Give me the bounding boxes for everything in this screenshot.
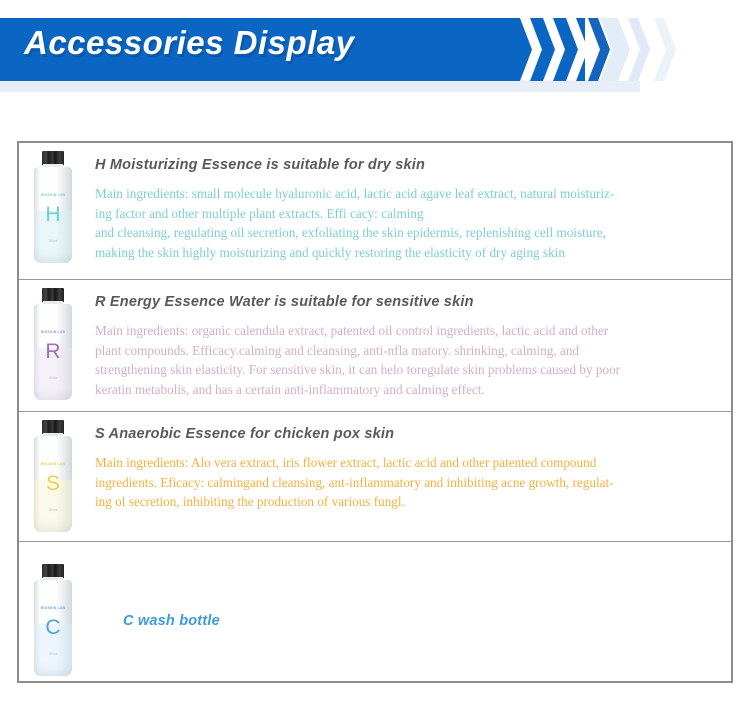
- description-line: making the skin highly moisturizing and …: [95, 243, 715, 263]
- product-text-cell: S Anaerobic Essence for chicken pox skin…: [87, 412, 731, 512]
- bottle-cap: [42, 420, 64, 434]
- bottle-brand-microtext: BIOSKIN LAB: [33, 193, 73, 197]
- bottle-brand-microtext: BIOSKIN LAB: [33, 330, 73, 334]
- description-line: Main ingredients: small molecule hyaluro…: [95, 184, 715, 204]
- product-image-cell: BIOSKIN LAB R 200ml: [19, 280, 87, 400]
- bottle-letter: S: [33, 472, 73, 496]
- banner-underbar: [0, 81, 640, 92]
- bottle-letter: H: [33, 203, 73, 227]
- bottle-s-image: BIOSKIN LAB S 200ml: [33, 420, 73, 532]
- bottle-volume-microtext: 200ml: [33, 508, 73, 512]
- product-text-cell: H Moisturizing Essence is suitable for d…: [87, 143, 731, 262]
- description-line: plant compounds. Efficacy.calming and cl…: [95, 341, 715, 361]
- description-line: ing ol secretion, inhibiting the product…: [95, 492, 715, 512]
- description-line: ingredients. Eficacy: calmingand cleansi…: [95, 473, 715, 493]
- bottle-cap: [42, 151, 64, 165]
- products-table: BIOSKIN LAB H 200ml H Moisturizing Essen…: [17, 141, 733, 683]
- page-header-banner: Accessories Display: [0, 0, 750, 110]
- table-row: BIOSKIN LAB C 200ml C wash bottle: [19, 542, 731, 681]
- bottle-brand-microtext: BIOSKIN LAB: [33, 462, 73, 466]
- bottle-volume-microtext: 200ml: [33, 652, 73, 656]
- product-image-cell: BIOSKIN LAB S 200ml: [19, 412, 87, 532]
- bottle-letter: C: [33, 616, 73, 640]
- product-title: S Anaerobic Essence for chicken pox skin: [95, 426, 715, 442]
- product-title: R Energy Essence Water is suitable for s…: [95, 294, 715, 310]
- chevron-outer-3-icon: [654, 18, 684, 81]
- bottle-c-image: BIOSKIN LAB C 200ml: [33, 564, 73, 676]
- product-text-cell: C wash bottle: [87, 542, 731, 681]
- description-line: Main ingredients: organic calendula extr…: [95, 321, 715, 341]
- table-row: BIOSKIN LAB H 200ml H Moisturizing Essen…: [19, 143, 731, 280]
- product-image-cell: BIOSKIN LAB C 200ml: [19, 542, 87, 676]
- bottle-cap: [42, 564, 64, 578]
- description-line: strengthening skin elasticity. For sensi…: [95, 360, 715, 380]
- chevron-inner-4-icon: [588, 18, 618, 81]
- product-text-cell: R Energy Essence Water is suitable for s…: [87, 280, 731, 399]
- description-line: ing factor and other multiple plant extr…: [95, 204, 715, 224]
- description-line: and cleansing, regulating oil secretion,…: [95, 223, 715, 243]
- page-title: Accessories Display: [24, 24, 355, 62]
- product-title: H Moisturizing Essence is suitable for d…: [95, 157, 715, 173]
- bottle-letter: R: [33, 340, 73, 364]
- product-description: Main ingredients: small molecule hyaluro…: [95, 184, 715, 262]
- bottle-brand-microtext: BIOSKIN LAB: [33, 606, 73, 610]
- bottle-h-image: BIOSKIN LAB H 200ml: [33, 151, 73, 263]
- product-title: C wash bottle: [123, 613, 220, 629]
- product-description: Main ingredients: organic calendula extr…: [95, 321, 715, 399]
- bottle-volume-microtext: 200ml: [33, 376, 73, 380]
- product-description: Main ingredients: Alo vera extract, iris…: [95, 453, 715, 512]
- description-line: keratin metabolis, and has a certain ant…: [95, 380, 715, 400]
- table-row: BIOSKIN LAB S 200ml S Anaerobic Essence …: [19, 412, 731, 542]
- table-row: BIOSKIN LAB R 200ml R Energy Essence Wat…: [19, 280, 731, 412]
- bottle-volume-microtext: 200ml: [33, 239, 73, 243]
- bottle-cap: [42, 288, 64, 302]
- bottle-r-image: BIOSKIN LAB R 200ml: [33, 288, 73, 400]
- description-line: Main ingredients: Alo vera extract, iris…: [95, 453, 715, 473]
- product-image-cell: BIOSKIN LAB H 200ml: [19, 143, 87, 263]
